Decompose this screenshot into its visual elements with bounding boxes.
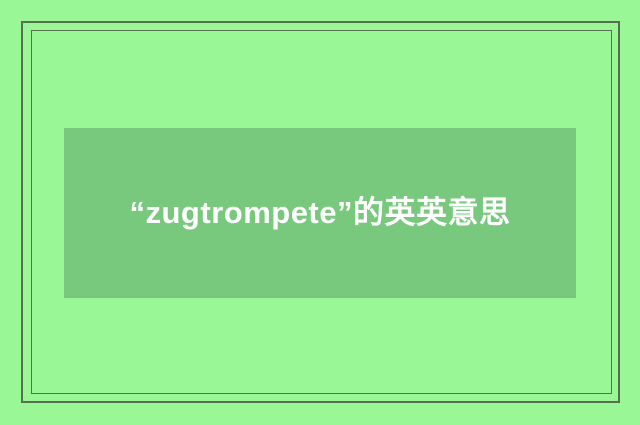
poster-canvas: “zugtrompete”的英英意思	[0, 0, 640, 425]
title-panel: “zugtrompete”的英英意思	[64, 128, 576, 298]
page-title: “zugtrompete”的英英意思	[110, 186, 530, 240]
